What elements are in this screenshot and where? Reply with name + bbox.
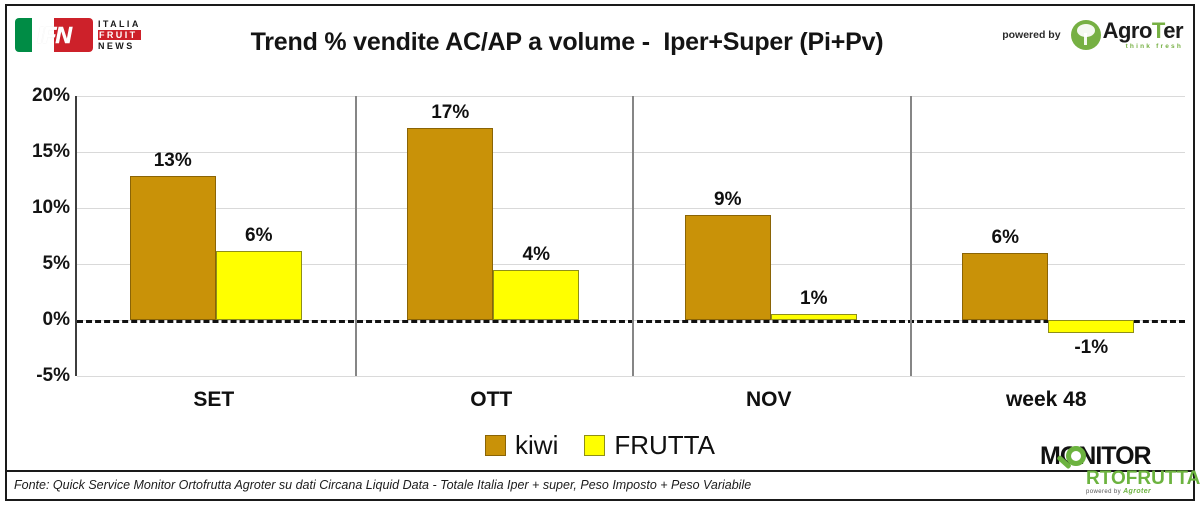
ifn-word-fruit: FRUIT bbox=[98, 30, 141, 40]
legend-swatch-frutta bbox=[584, 435, 605, 456]
plot-frame: 13%6%17%4%9%1%6%-1% bbox=[75, 96, 1185, 376]
y-axis-tick-label: -5% bbox=[36, 365, 70, 387]
y-axis-tick-labels: 20%15%10%5%0%-5% bbox=[7, 80, 73, 390]
gridline bbox=[77, 96, 1185, 97]
y-axis-tick-label: 15% bbox=[32, 141, 70, 163]
legend-item-frutta[interactable]: FRUTTA bbox=[584, 432, 715, 458]
plot-canvas: 13%6%17%4%9%1%6%-1% bbox=[77, 96, 1185, 376]
bar-kiwi-ott[interactable] bbox=[407, 128, 493, 320]
agroter-name: AgroTer bbox=[1103, 20, 1183, 42]
powered-by-label: powered by bbox=[1002, 29, 1060, 41]
bar-value-label: 17% bbox=[431, 102, 469, 124]
y-axis-tick-label: 20% bbox=[32, 85, 70, 107]
legend-swatch-kiwi bbox=[485, 435, 506, 456]
chart-title: Trend % vendite AC/AP a volume - Iper+Su… bbox=[187, 28, 947, 57]
y-axis-tick-label: 0% bbox=[43, 309, 70, 331]
ifn-logo-text: IFN bbox=[37, 22, 71, 49]
legend-label-frutta: FRUTTA bbox=[614, 432, 715, 458]
footer-divider bbox=[7, 470, 1193, 472]
source-note: Fonte: Quick Service Monitor Ortofrutta … bbox=[14, 478, 751, 492]
bar-value-label: 4% bbox=[523, 244, 550, 266]
chart-header: IFN ITALIA FRUIT NEWS Trend % vendite AC… bbox=[7, 6, 1193, 68]
bar-frutta-nov[interactable] bbox=[771, 314, 857, 320]
x-axis-label-set: SET bbox=[193, 388, 234, 412]
group-separator bbox=[910, 96, 912, 376]
monitor-ortofrutta-logo: MONITOR RTOFRUTTA powered by Agroter bbox=[1040, 443, 1190, 497]
bar-value-label: 13% bbox=[154, 150, 192, 172]
ifn-logo-words: ITALIA FRUIT NEWS bbox=[98, 19, 141, 51]
chart-page: IFN ITALIA FRUIT NEWS Trend % vendite AC… bbox=[0, 0, 1200, 505]
monitor-logo-top: MONITOR bbox=[1040, 443, 1190, 469]
monitor-logo-line2: RTOFRUTTA bbox=[1086, 469, 1190, 488]
agroter-logo-text: AgroTer think fresh bbox=[1103, 20, 1183, 51]
ifn-word-news: NEWS bbox=[98, 41, 141, 51]
ifn-word-italia: ITALIA bbox=[98, 19, 141, 29]
zero-baseline bbox=[77, 320, 1185, 323]
tree-icon bbox=[1071, 20, 1101, 50]
bar-kiwi-nov[interactable] bbox=[685, 215, 771, 320]
ifn-logo-mark: IFN bbox=[15, 18, 93, 52]
ifn-logo: IFN ITALIA FRUIT NEWS bbox=[15, 14, 150, 56]
group-separator bbox=[632, 96, 634, 376]
bar-kiwi-set[interactable] bbox=[130, 176, 216, 320]
bar-frutta-ott[interactable] bbox=[493, 270, 579, 320]
x-axis-label-week-48: week 48 bbox=[1006, 388, 1087, 412]
bar-value-label: 6% bbox=[992, 227, 1019, 249]
agroter-tagline: think fresh bbox=[1103, 44, 1183, 51]
bar-frutta-set[interactable] bbox=[216, 251, 302, 320]
x-axis-label-ott: OTT bbox=[470, 388, 512, 412]
gridline bbox=[77, 152, 1185, 153]
bar-value-label: -1% bbox=[1074, 337, 1108, 359]
y-axis-tick-label: 10% bbox=[32, 197, 70, 219]
bar-frutta-week-48[interactable] bbox=[1048, 320, 1134, 333]
bar-value-label: 9% bbox=[714, 189, 741, 211]
legend-label-kiwi: kiwi bbox=[515, 432, 558, 458]
bar-kiwi-week-48[interactable] bbox=[962, 253, 1048, 320]
y-axis-tick-label: 5% bbox=[43, 253, 70, 275]
powered-by-block: powered by AgroTer think fresh bbox=[1002, 20, 1183, 51]
x-axis-label-nov: NOV bbox=[746, 388, 792, 412]
group-separator bbox=[355, 96, 357, 376]
chart-plot-area: 20%15%10%5%0%-5% 13%6%17%4%9%1%6%-1% bbox=[7, 80, 1193, 390]
bar-value-label: 6% bbox=[245, 225, 272, 247]
bar-value-label: 1% bbox=[800, 288, 827, 310]
x-axis-category-labels: SETOTTNOVweek 48 bbox=[75, 388, 1185, 418]
gridline bbox=[77, 208, 1185, 209]
legend-item-kiwi[interactable]: kiwi bbox=[485, 432, 558, 458]
chart-legend: kiwiFRUTTA bbox=[0, 432, 1200, 458]
gridline bbox=[77, 376, 1185, 377]
agroter-logo: AgroTer think fresh bbox=[1071, 20, 1183, 51]
monitor-logo-tagline: powered by Agroter bbox=[1086, 488, 1190, 495]
monitor-logo-line1: MONITOR bbox=[1040, 444, 1151, 468]
